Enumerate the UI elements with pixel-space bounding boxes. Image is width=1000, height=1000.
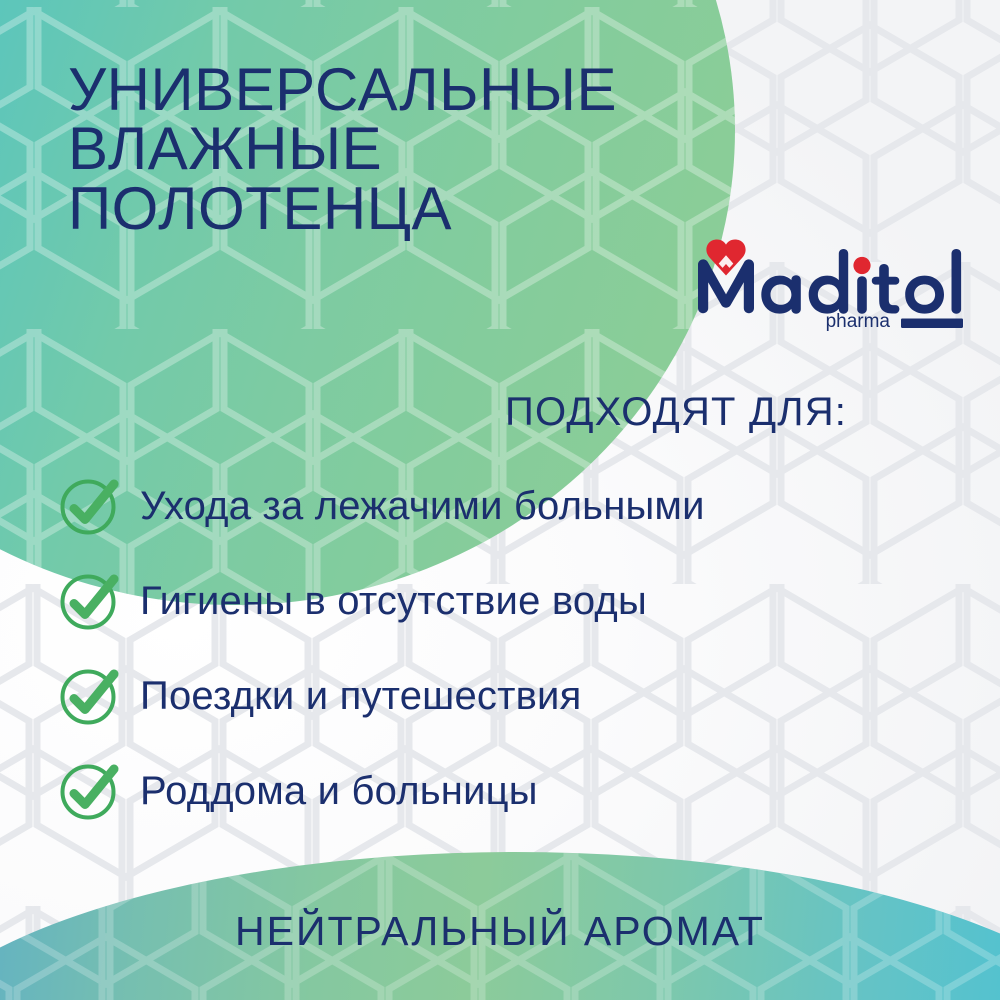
- page-title: УНИВЕРСАЛЬНЫЕ ВЛАЖНЫЕ ПОЛОТЕНЦА: [68, 60, 768, 238]
- check-circle-icon: [58, 475, 120, 537]
- logo-dot: [853, 257, 870, 274]
- benefits-list: Ухода за лежачими больными Гигиены в отс…: [58, 458, 958, 838]
- section-heading: ПОДХОДЯТ ДЛЯ:: [505, 392, 847, 432]
- check-circle-icon: [58, 760, 120, 822]
- list-item-label: Ухода за лежачими больными: [140, 486, 705, 526]
- list-item: Гигиены в отсутствие воды: [58, 553, 958, 648]
- footer-caption: НЕЙТРАЛЬНЫЙ АРОМАТ: [0, 908, 1000, 955]
- maditol-logo: pharma: [686, 222, 968, 334]
- list-item: Поездки и путешествия: [58, 648, 958, 743]
- check-circle-icon: [58, 665, 120, 727]
- logo-tagline: pharma: [826, 311, 891, 332]
- list-item-label: Роддома и больницы: [140, 771, 538, 811]
- promo-poster: УНИВЕРСАЛЬНЫЕ ВЛАЖНЫЕ ПОЛОТЕНЦА: [0, 0, 1000, 1000]
- list-item: Роддома и больницы: [58, 743, 958, 838]
- list-item-label: Гигиены в отсутствие воды: [140, 581, 647, 621]
- list-item-label: Поездки и путешествия: [140, 676, 581, 716]
- headline-line-1: УНИВЕРСАЛЬНЫЕ: [68, 60, 768, 119]
- headline-line-3: ПОЛОТЕНЦА: [68, 179, 768, 238]
- headline-line-2: ВЛАЖНЫЕ: [68, 119, 768, 178]
- check-circle-icon: [58, 570, 120, 632]
- list-item: Ухода за лежачими больными: [58, 458, 958, 553]
